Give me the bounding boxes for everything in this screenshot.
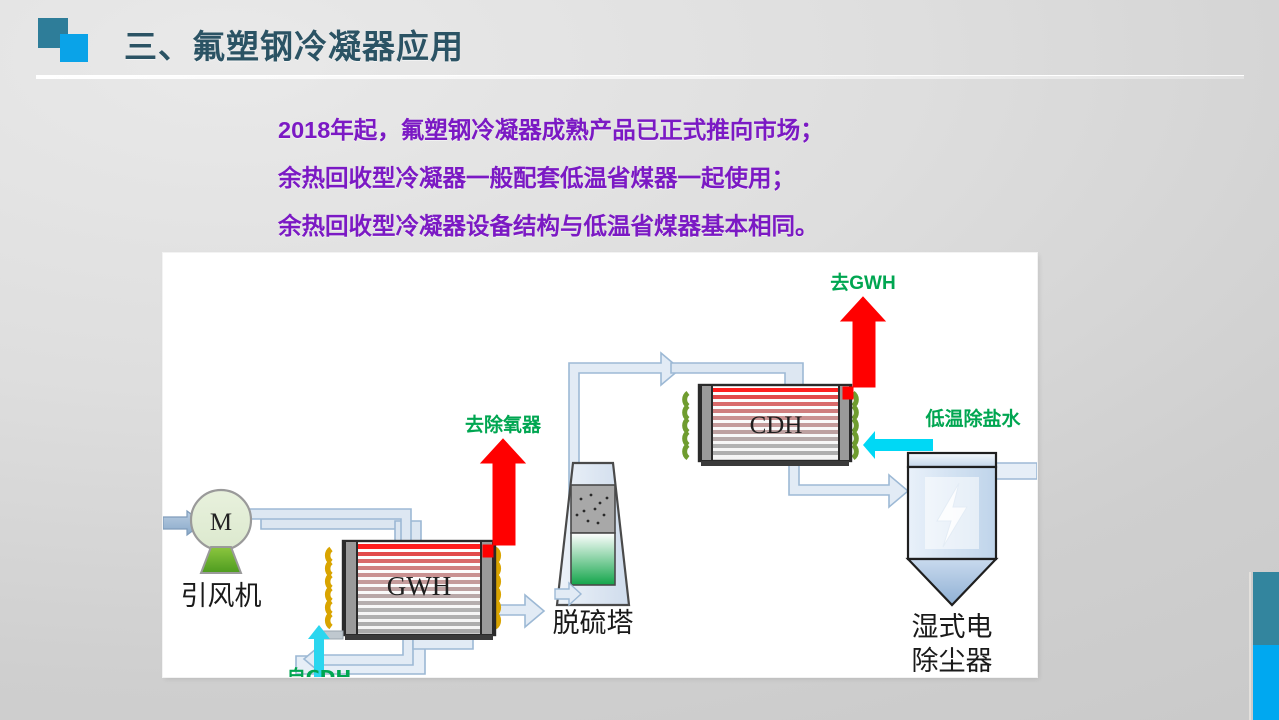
gwh-symbol-label: GWH (387, 571, 451, 601)
fan-base (201, 547, 241, 573)
esp-caption-line2: 除尘器 (912, 646, 993, 677)
title-divider (36, 75, 1244, 79)
esp-top-cap (908, 453, 996, 467)
body-line-3: 余热回收型冷凝器设备结构与低温省煤器基本相同。 (278, 202, 1078, 250)
page-title: 三、氟塑钢冷凝器应用 (124, 20, 464, 68)
node-cdh-heat-exchanger[interactable]: CDH (685, 385, 857, 466)
label-to-gwh: 去GWH (830, 271, 895, 294)
tower-spray-zone (571, 485, 615, 533)
cdh-symbol-label: CDH (750, 412, 803, 439)
esp-caption-line1: 湿式电 (912, 612, 993, 643)
node-desulfurization-tower[interactable]: 脱硫塔 (553, 463, 634, 639)
fan-caption: 引风机 (181, 581, 262, 612)
cdh-base (701, 461, 849, 466)
edge-accent-teal (1253, 572, 1279, 645)
label-to-deaerator: 去除氧器 (465, 413, 542, 436)
cdh-coils-right (853, 393, 856, 458)
tower-liquid-pool (571, 533, 615, 585)
cdh-header-left (701, 385, 712, 461)
body-line-2: 余热回收型冷凝器一般配套低温省煤器一起使用； (278, 154, 1078, 202)
node-induced-draft-fan[interactable]: M 引风机 (163, 490, 262, 612)
node-gwh-heat-exchanger[interactable]: GWH (328, 541, 499, 640)
body-line-1: 2018年起，氟塑钢冷凝器成熟产品已正式推向市场； (278, 106, 1078, 154)
edge-accent-hairline (1249, 572, 1251, 720)
gwh-coils-left (328, 549, 331, 627)
hot-water-to-deaerator (481, 439, 525, 557)
slide-root: 三、氟塑钢冷凝器应用 2018年起，氟塑钢冷凝器成熟产品已正式推向市场； 余热回… (0, 0, 1279, 720)
label-demin-water: 低温除盐水 (924, 407, 1021, 430)
fan-symbol-label: M (210, 509, 232, 536)
gwh-base (345, 635, 493, 640)
esp-cone (908, 559, 996, 605)
body-paragraph: 2018年起，氟塑钢冷凝器成熟产品已正式推向市场； 余热回收型冷凝器一般配套低温… (278, 106, 1078, 250)
gwh-header-left (345, 541, 357, 635)
decor-square-bright-icon (60, 34, 88, 62)
hot-water-to-gwh (841, 297, 885, 399)
cdh-coils-left (685, 393, 688, 458)
edge-accent-blue (1253, 645, 1279, 720)
node-wet-esp[interactable]: 湿式电 除尘器 (908, 453, 996, 677)
label-from-cdh: 自CDH (287, 666, 352, 677)
process-diagram-panel: M 引风机 (163, 253, 1037, 677)
tower-caption: 脱硫塔 (553, 608, 634, 639)
